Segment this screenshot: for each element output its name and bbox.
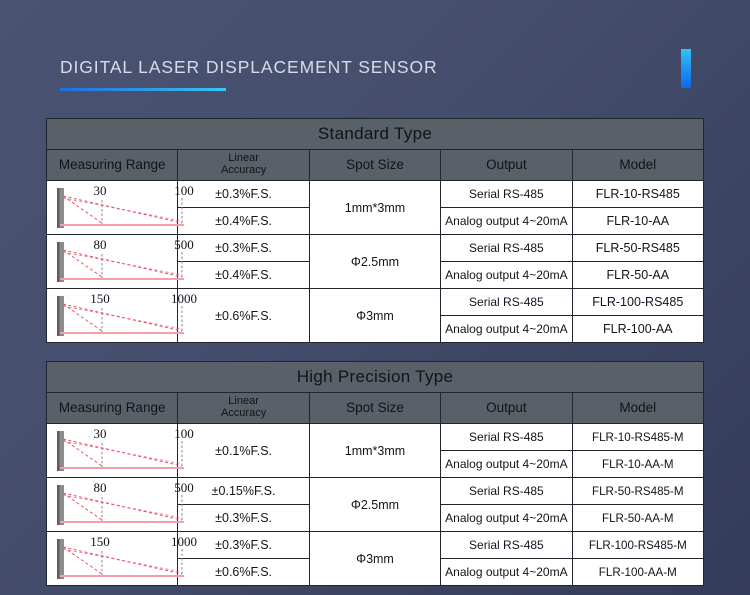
- measuring-range-diagram: 150 1000: [47, 533, 177, 585]
- cell-model: FLR-100-RS485-M: [572, 532, 703, 559]
- column-header-model: Model: [572, 393, 703, 424]
- svg-text:1000: 1000: [171, 534, 197, 549]
- cell-output: Analog output 4~20mA: [441, 208, 572, 235]
- cell-model: FLR-100-AA-M: [572, 559, 703, 586]
- cell-output: Analog output 4~20mA: [441, 316, 572, 343]
- table-title: Standard Type: [47, 119, 704, 150]
- table-title-row: High Precision Type: [47, 362, 704, 393]
- measuring-range-diagram: 80 500: [47, 479, 177, 531]
- column-header-linear-accuracy: LinearAccuracy: [178, 150, 309, 181]
- measuring-range-diagram: 30 100: [47, 425, 177, 477]
- cell-model: FLR-100-AA: [572, 316, 703, 343]
- cell-measuring-range: 80 500: [47, 478, 178, 532]
- cell-spot-size: 1mm*3mm: [309, 424, 440, 478]
- svg-text:150: 150: [90, 534, 110, 549]
- cell-measuring-range: 150 1000: [47, 532, 178, 586]
- svg-text:500: 500: [174, 480, 194, 495]
- cell-measuring-range: 80 500: [47, 235, 178, 289]
- svg-text:80: 80: [94, 237, 107, 252]
- svg-text:500: 500: [174, 237, 194, 252]
- table-row: 30 100 ±0.1%F.S. 1mm*3mm Serial RS-485 F…: [47, 424, 704, 451]
- measuring-range-diagram: 30 100: [47, 182, 177, 234]
- standard-type-table: Standard Type Measuring Range LinearAccu…: [46, 118, 704, 343]
- svg-text:100: 100: [174, 183, 194, 198]
- column-header-spot-size: Spot Size: [309, 150, 440, 181]
- column-header-spot-size: Spot Size: [309, 393, 440, 424]
- title-underline-accent: [60, 88, 226, 91]
- cell-output: Analog output 4~20mA: [441, 262, 572, 289]
- page-title: DIGITAL LASER DISPLACEMENT SENSOR: [60, 57, 438, 78]
- table-title-row: Standard Type: [47, 119, 704, 150]
- svg-text:30: 30: [94, 426, 107, 441]
- measuring-range-diagram: 80 500: [47, 236, 177, 288]
- table-header-row: Measuring Range LinearAccuracy Spot Size…: [47, 393, 704, 424]
- cell-model: FLR-50-AA-M: [572, 505, 703, 532]
- cell-model: FLR-50-AA: [572, 262, 703, 289]
- cell-output: Serial RS-485: [441, 478, 572, 505]
- cell-model: FLR-50-RS485-M: [572, 478, 703, 505]
- cell-measuring-range: 30 100: [47, 424, 178, 478]
- cell-model: FLR-10-AA: [572, 208, 703, 235]
- cell-output: Analog output 4~20mA: [441, 505, 572, 532]
- cell-measuring-range: 30 100: [47, 181, 178, 235]
- corner-accent-bar-icon: [681, 49, 691, 88]
- table-row: 80 500 ±0.3%F.S. Φ2.5mm Serial RS-485 FL…: [47, 235, 704, 262]
- cell-spot-size: 1mm*3mm: [309, 181, 440, 235]
- svg-text:100: 100: [174, 426, 194, 441]
- cell-output: Serial RS-485: [441, 235, 572, 262]
- table-header-row: Measuring Range LinearAccuracy Spot Size…: [47, 150, 704, 181]
- table-row: 30 100 ±0.3%F.S. 1mm*3mm Serial RS-485 F…: [47, 181, 704, 208]
- cell-model: FLR-10-RS485: [572, 181, 703, 208]
- cell-spot-size: Φ3mm: [309, 289, 440, 343]
- high-precision-type-table: High Precision Type Measuring Range Line…: [46, 361, 704, 586]
- product-spec-page: DIGITAL LASER DISPLACEMENT SENSOR Standa…: [0, 0, 750, 595]
- measuring-range-diagram: 150 1000: [47, 290, 177, 342]
- cell-output: Serial RS-485: [441, 181, 572, 208]
- table-row: 150 1000 ±0.3%F.S. Φ3mm Serial RS-485 FL…: [47, 532, 704, 559]
- svg-text:30: 30: [94, 183, 107, 198]
- svg-text:150: 150: [90, 291, 110, 306]
- cell-output: Serial RS-485: [441, 532, 572, 559]
- cell-model: FLR-100-RS485: [572, 289, 703, 316]
- table-row: 80 500 ±0.15%F.S. Φ2.5mm Serial RS-485 F…: [47, 478, 704, 505]
- svg-text:1000: 1000: [171, 291, 197, 306]
- cell-output: Serial RS-485: [441, 424, 572, 451]
- column-header-output: Output: [441, 393, 572, 424]
- cell-model: FLR-10-RS485-M: [572, 424, 703, 451]
- high-precision-type-table-body: High Precision Type Measuring Range Line…: [47, 362, 704, 586]
- cell-model: FLR-50-RS485: [572, 235, 703, 262]
- cell-measuring-range: 150 1000: [47, 289, 178, 343]
- column-header-measuring-range: Measuring Range: [47, 393, 178, 424]
- column-header-measuring-range: Measuring Range: [47, 150, 178, 181]
- column-header-model: Model: [572, 150, 703, 181]
- column-header-output: Output: [441, 150, 572, 181]
- cell-spot-size: Φ3mm: [309, 532, 440, 586]
- cell-output: Serial RS-485: [441, 289, 572, 316]
- cell-output: Analog output 4~20mA: [441, 559, 572, 586]
- standard-type-table-body: Standard Type Measuring Range LinearAccu…: [47, 119, 704, 343]
- svg-text:80: 80: [94, 480, 107, 495]
- column-header-linear-accuracy: LinearAccuracy: [178, 393, 309, 424]
- table-row: 150 1000 ±0.6%F.S. Φ3mm Serial RS-485 FL…: [47, 289, 704, 316]
- cell-spot-size: Φ2.5mm: [309, 478, 440, 532]
- cell-spot-size: Φ2.5mm: [309, 235, 440, 289]
- table-title: High Precision Type: [47, 362, 704, 393]
- cell-output: Analog output 4~20mA: [441, 451, 572, 478]
- cell-model: FLR-10-AA-M: [572, 451, 703, 478]
